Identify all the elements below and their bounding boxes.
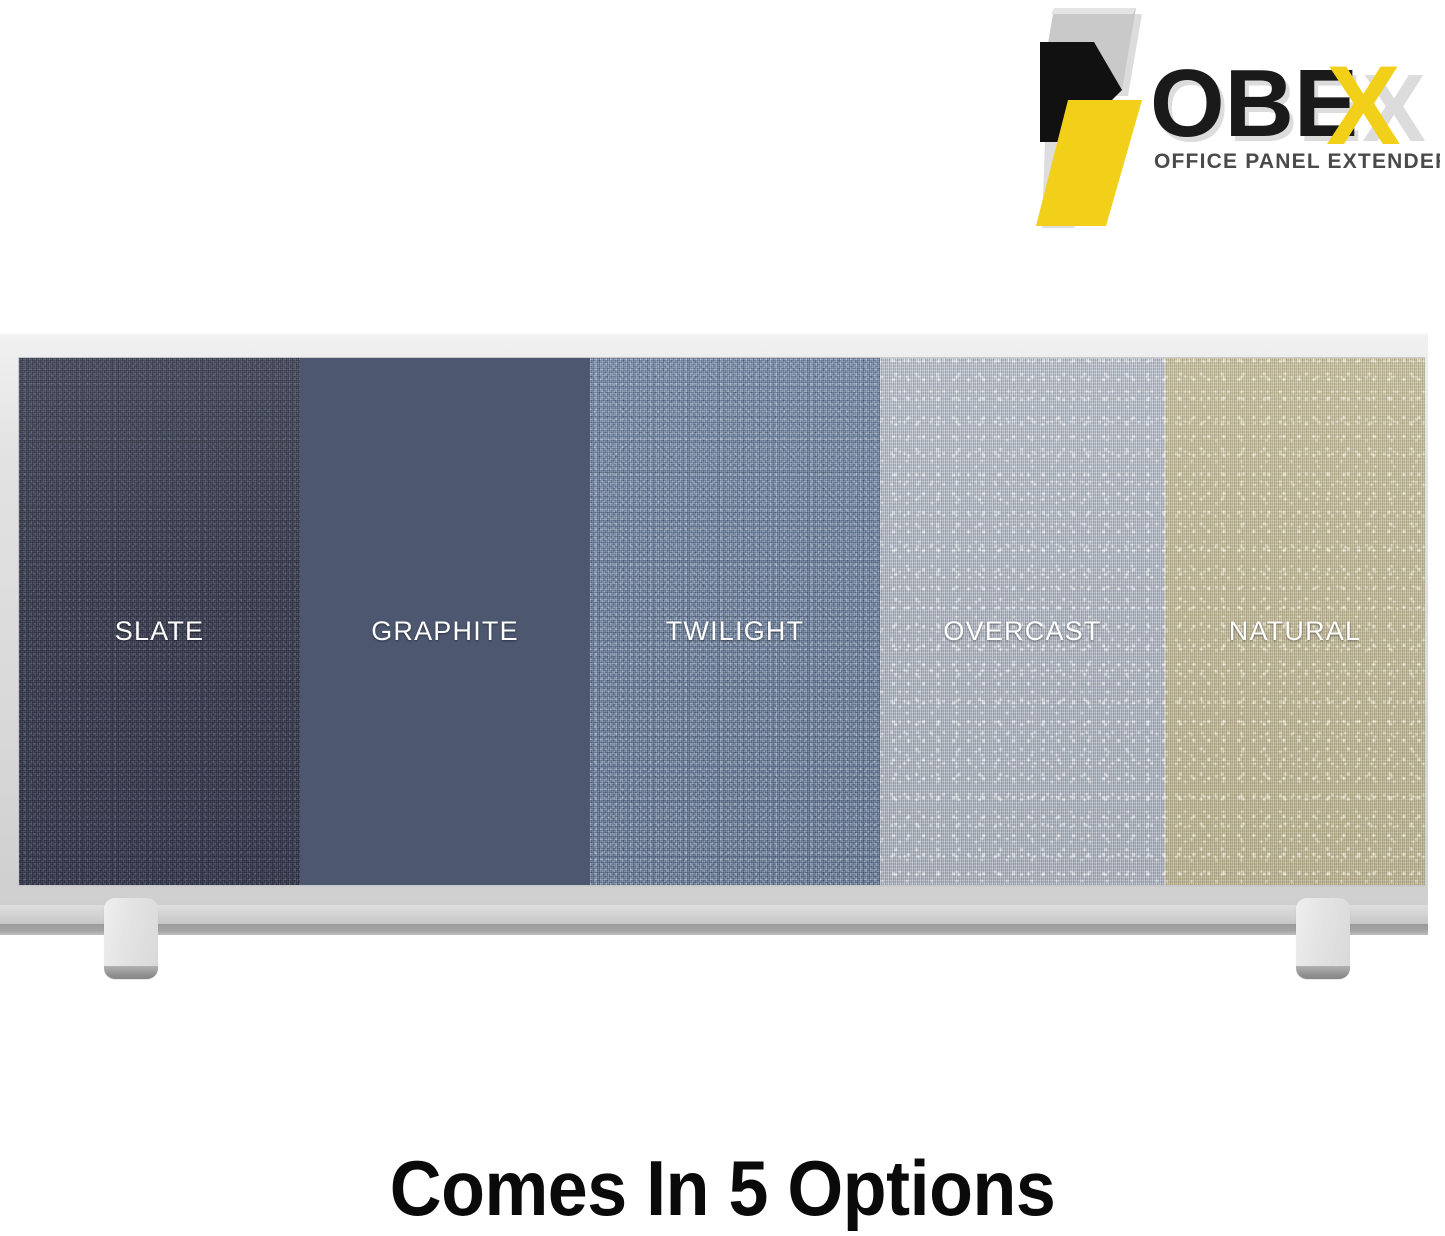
- swatch-slate[interactable]: SLATE: [19, 358, 300, 885]
- panel-extender-product: SLATE GRAPHITE TWILIGHT OVERCAST NATURAL: [0, 333, 1432, 993]
- obex-wordmark: OBEX OBE X OFFICE PANEL EXTENDERS: [1150, 56, 1440, 186]
- swatch-graphite[interactable]: GRAPHITE: [300, 358, 590, 885]
- fabric-swatch-strip: SLATE GRAPHITE TWILIGHT OVERCAST NATURAL: [19, 358, 1425, 885]
- swatch-label: SLATE: [19, 616, 300, 647]
- swatch-label: NATURAL: [1165, 616, 1425, 647]
- wordmark-tagline: OFFICE PANEL EXTENDERS: [1154, 150, 1440, 173]
- panel-foot-left: [104, 898, 158, 979]
- swatch-label: GRAPHITE: [300, 616, 590, 647]
- obex-logo-mark: [1032, 4, 1162, 244]
- swatch-twilight[interactable]: TWILIGHT: [590, 358, 880, 885]
- swatch-label: TWILIGHT: [590, 616, 880, 647]
- panel-bottom-rail: [0, 905, 1428, 924]
- obex-logo: OBEX OBE X OFFICE PANEL EXTENDERS: [1032, 4, 1432, 244]
- panel-bottom-shadow: [0, 924, 1428, 935]
- caption-text: Comes In 5 Options: [58, 1146, 1387, 1230]
- swatch-label: OVERCAST: [880, 616, 1165, 647]
- swatch-overcast[interactable]: OVERCAST: [880, 358, 1165, 885]
- swatch-natural[interactable]: NATURAL: [1165, 358, 1425, 885]
- panel-foot-right: [1296, 898, 1350, 979]
